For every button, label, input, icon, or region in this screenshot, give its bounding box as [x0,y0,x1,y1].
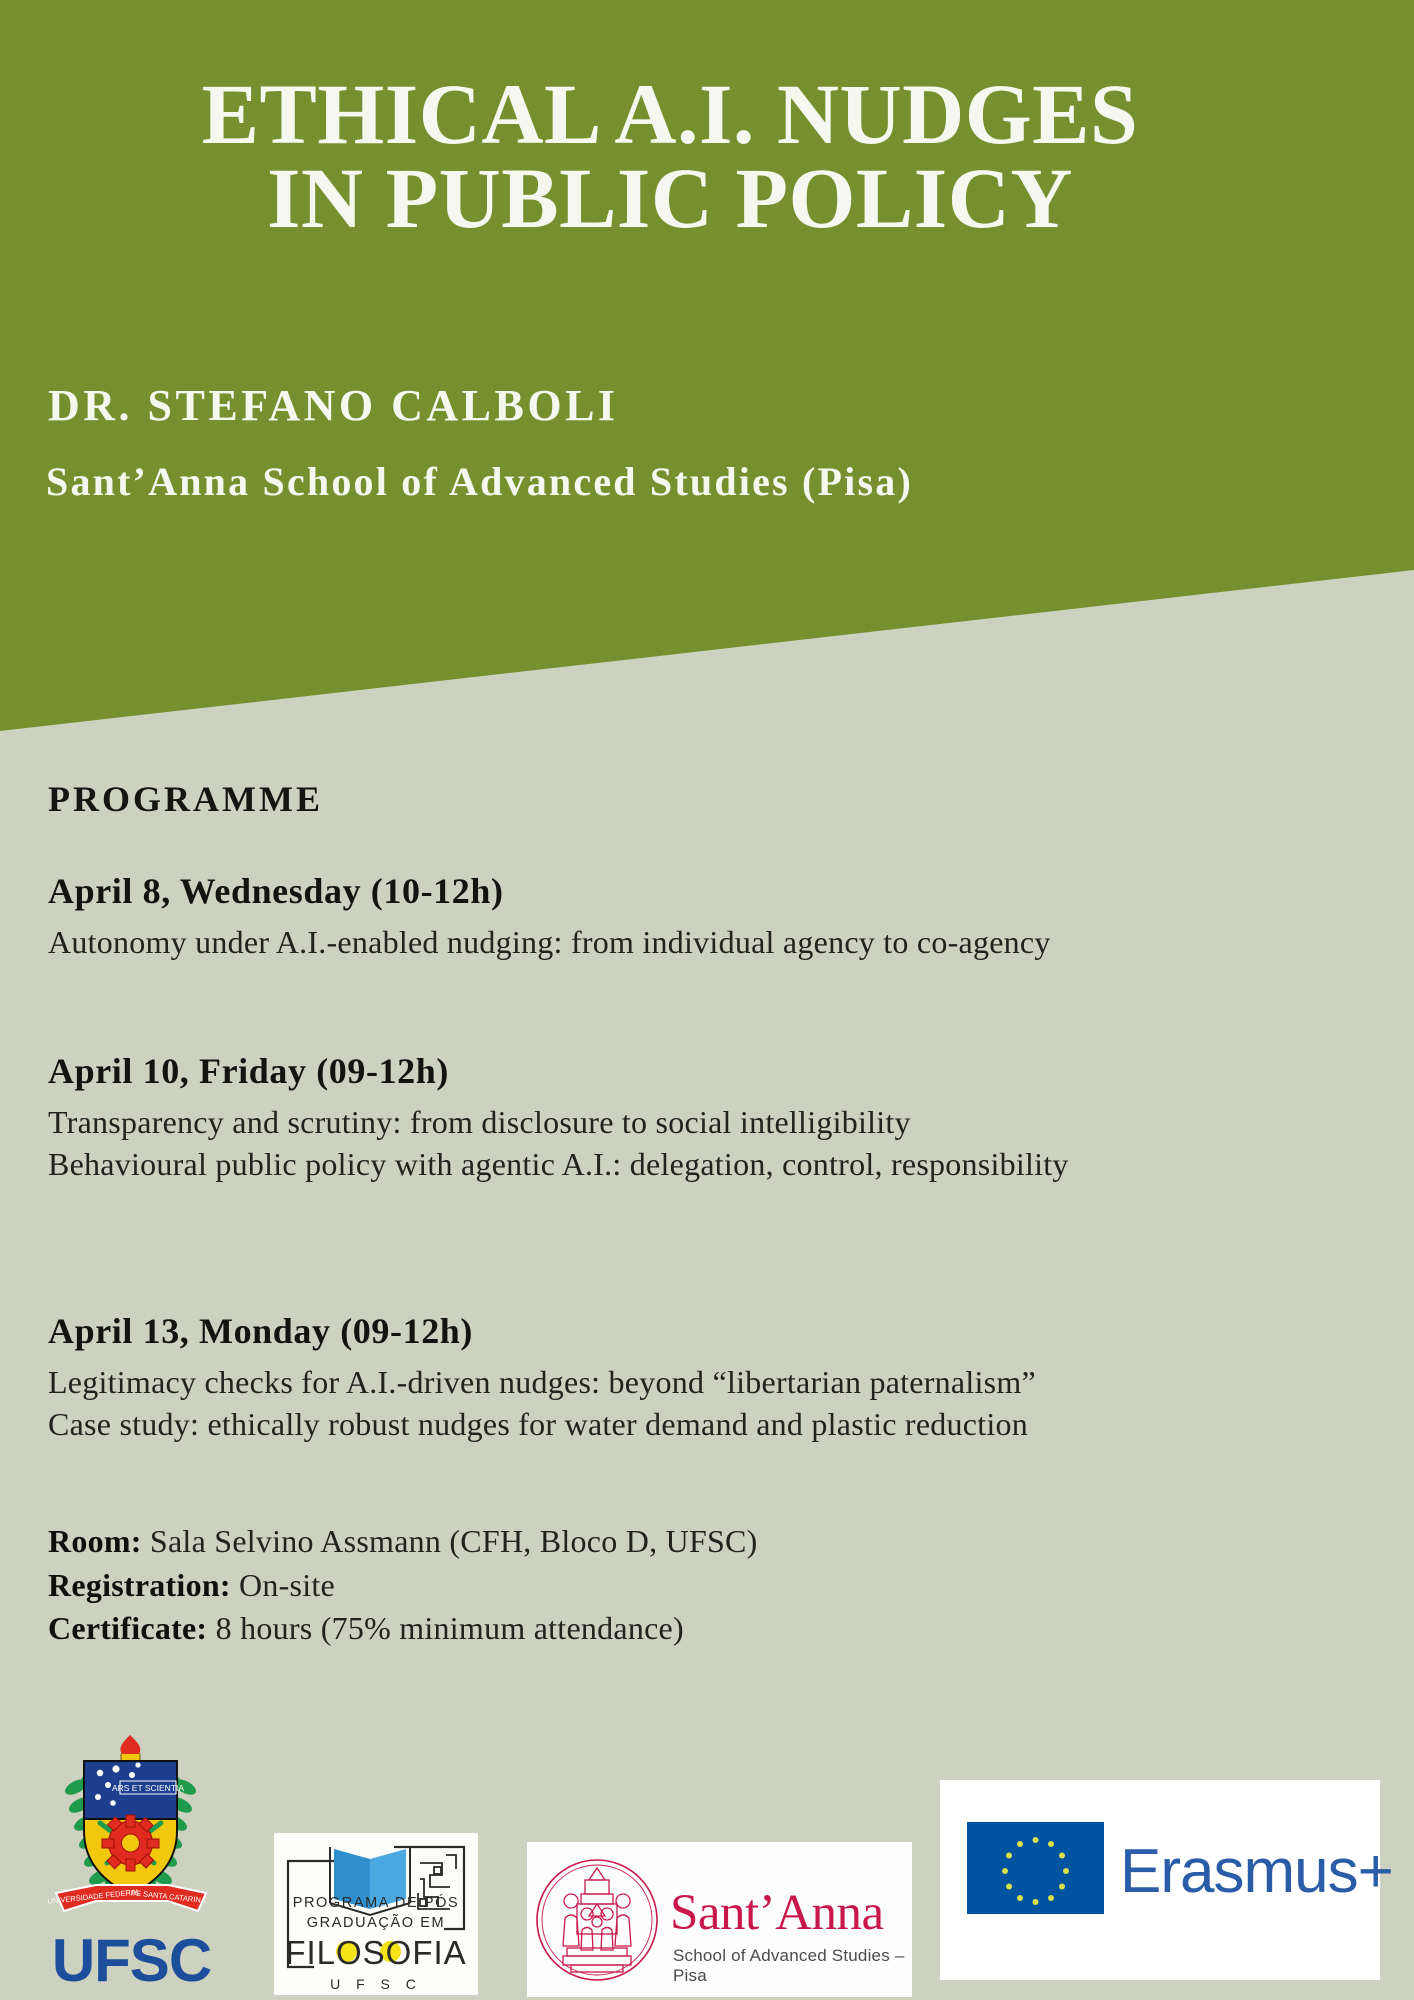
session-topic: Legitimacy checks for A.I.-driven nudges… [48,1362,1368,1404]
detail-value: 8 hours (75% minimum attendance) [207,1610,684,1646]
session-block-2: April 10, Friday (09-12h) Transparency a… [48,1050,1368,1185]
santanna-subtitle: School of Advanced Studies – Pisa [673,1946,912,1986]
title-line-1: ETHICAL A.I. NUDGES [202,66,1139,162]
session-date: April 10, Friday (09-12h) [48,1050,1368,1092]
session-topic: Transparency and scrutiny: from disclosu… [48,1102,1368,1144]
detail-label: Registration: [48,1567,231,1603]
detail-value: On-site [231,1567,335,1603]
detail-room: Room: Sala Selvino Assmann (CFH, Bloco D… [48,1520,1248,1564]
speaker-name: DR. STEFANO CALBOLI [48,380,619,431]
event-details: Room: Sala Selvino Assmann (CFH, Bloco D… [48,1520,1248,1651]
santanna-name: Sant’Anna [670,1884,884,1942]
filosofia-line-1: PROGRAMA DE PÓS [274,1895,478,1911]
filosofia-line-2: GRADUAÇÃO EM [274,1915,478,1931]
session-block-3: April 13, Monday (09-12h) Legitimacy che… [48,1310,1368,1445]
eu-stars-icon [967,1822,1104,1914]
detail-value: Sala Selvino Assmann (CFH, Bloco D, UFSC… [142,1523,758,1559]
santanna-logo: Sant’Anna School of Advanced Studies – P… [527,1842,912,1997]
title-line-2: IN PUBLIC POLICY [0,156,1340,240]
session-date: April 13, Monday (09-12h) [48,1310,1368,1352]
filosofia-line-3: FILOSOFIA [274,1936,478,1969]
session-topic: Autonomy under A.I.-enabled nudging: fro… [48,922,1368,964]
erasmus-wordmark: Erasmus+ [1120,1836,1393,1907]
eu-flag-icon [967,1822,1104,1914]
detail-label: Room: [48,1523,142,1559]
programme-heading: PROGRAMME [48,778,323,820]
detail-label: Certificate: [48,1610,207,1646]
ufsc-logo: ARS ET SCIENTIA UNIVERSIDADE FEDERAL [38,1735,223,2000]
filosofia-line-4: U F S C [274,1976,478,1992]
poster-root: ETHICAL A.I. NUDGES IN PUBLIC POLICY DR.… [0,0,1414,2000]
santanna-seal-icon [527,1842,667,1997]
erasmus-logo: Erasmus+ [940,1780,1380,1980]
session-topic: Behavioural public policy with agentic A… [48,1144,1368,1186]
page-title: ETHICAL A.I. NUDGES IN PUBLIC POLICY [0,72,1340,241]
session-block-1: April 8, Wednesday (10-12h) Autonomy und… [48,870,1368,964]
session-date: April 8, Wednesday (10-12h) [48,870,1368,912]
filosofia-logo: PROGRAMA DE PÓS GRADUAÇÃO EM FILOSOFIA U… [274,1833,478,1995]
detail-certificate: Certificate: 8 hours (75% minimum attend… [48,1607,1248,1651]
detail-registration: Registration: On-site [48,1564,1248,1608]
session-topic: Case study: ethically robust nudges for … [48,1404,1368,1446]
logo-row: ARS ET SCIENTIA UNIVERSIDADE FEDERAL [0,1730,1414,2000]
ufsc-motto-text: ARS ET SCIENTIA [112,1783,184,1793]
ufsc-wordmark: UFSC [44,1931,219,1991]
ufsc-crest-icon: ARS ET SCIENTIA UNIVERSIDADE FEDERAL [38,1735,223,1935]
speaker-affiliation: Sant’Anna School of Advanced Studies (Pi… [46,458,913,505]
